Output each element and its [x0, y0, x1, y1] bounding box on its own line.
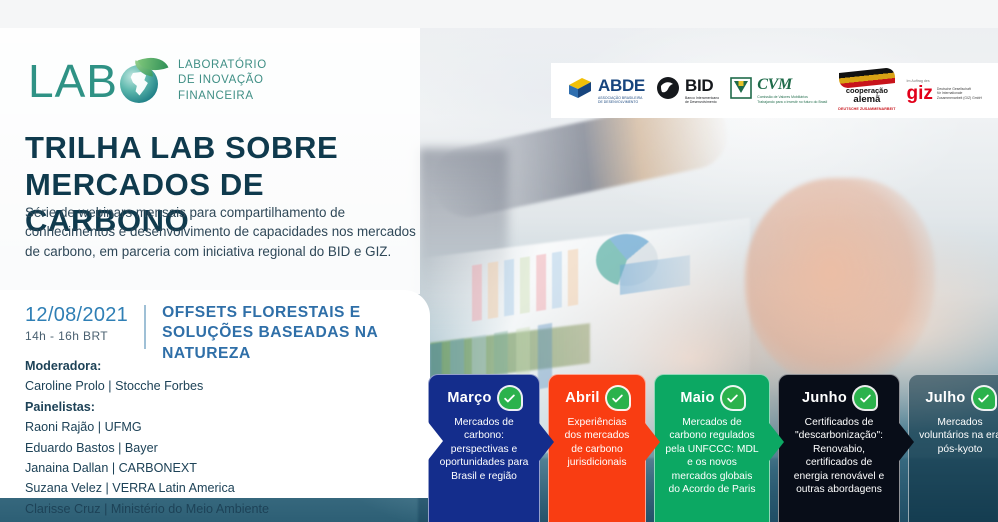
partner-logo-cooperacao-alema: cooperação alemã DEUTSCHE ZUSAMMENARBEIT: [838, 70, 895, 112]
partner-logo-bar: ABDE ASSOCIAÇÃO BRASILEIRA DE DESENVOLVI…: [551, 63, 998, 118]
lab-logo-subtitle: Laboratório de Inovação Financeira: [178, 58, 267, 104]
partner-logo-cvm: CVM Comissão de Valores Mobiliários Trab…: [730, 77, 827, 104]
check-circle-icon: [499, 387, 521, 409]
check-circle-icon: [607, 387, 629, 409]
timeline-card-header: Julho: [917, 385, 998, 411]
timeline-card-header: Abril: [557, 385, 637, 411]
timeline-card-description: Experiências dos mercados de carbono jur…: [557, 416, 637, 470]
timeline-card-month: Maio: [680, 390, 714, 406]
timeline-card-description: Certificados de "descarbonização": Renov…: [787, 416, 891, 496]
moderator-name: Caroline Prolo | Stocche Forbes: [25, 376, 385, 396]
giz-name: giz: [907, 85, 933, 102]
webinar-banner: LAB Laboratório de Inovação Financeira T…: [0, 0, 998, 522]
photo-hand: [745, 178, 935, 388]
timeline-card-description: Mercados de carbono: perspectivas e opor…: [437, 416, 531, 483]
lab-logo-subtitle-line-1: Laboratório: [178, 58, 267, 73]
top-band: [0, 0, 998, 28]
giz-tagline-line-3: Zusammenarbeit (GIZ) GmbH: [937, 96, 982, 100]
session-title: OFFSETS FLORESTAIS E SOLUÇÕES BASEADAS N…: [146, 303, 442, 364]
chevron-right-icon: [899, 423, 914, 461]
timeline-card-abril[interactable]: Abril Experiências dos mercados de carbo…: [548, 374, 646, 522]
panelists-label: Painelistas:: [25, 397, 385, 417]
page-description: Série de webinars mensais para compartil…: [25, 203, 420, 261]
globe-leaf-icon: [120, 59, 164, 103]
timeline-card-junho[interactable]: Junho Certificados de "descarbonização":…: [778, 374, 900, 522]
speakers-list: Moderadora: Caroline Prolo | Stocche For…: [25, 356, 385, 519]
page-title-line-1: TRILHA LAB SOBRE: [25, 130, 425, 167]
cvm-mark-icon: [730, 77, 752, 104]
check-circle-icon: [973, 387, 995, 409]
abde-mark-icon: [567, 76, 593, 105]
abde-name: ABDE: [598, 77, 645, 94]
lab-logo-subtitle-line-2: de Inovação: [178, 73, 267, 88]
bid-mark-icon: [656, 76, 680, 105]
abde-tagline-line-2: DE DESENVOLVIMENTO: [598, 100, 645, 104]
partner-logo-abde: ABDE ASSOCIAÇÃO BRASILEIRA DE DESENVOLVI…: [567, 76, 645, 105]
timeline-card-header: Maio: [663, 385, 761, 411]
check-circle-icon: [722, 387, 744, 409]
lab-logo-subtitle-line-3: Financeira: [178, 89, 267, 104]
bid-tagline-line-2: de Desenvolvimento: [685, 100, 719, 104]
timeline-card-header: Março: [437, 385, 531, 411]
timeline-card-marco[interactable]: Março Mercados de carbono: perspectivas …: [428, 374, 540, 522]
chevron-right-icon: [539, 423, 554, 461]
cvm-name: CVM: [757, 77, 827, 93]
session-datetime: 12/08/2021 14h - 16h BRT: [25, 303, 144, 343]
partner-logo-giz: Im Auftrag des giz Deutsche Gesellschaft…: [907, 79, 982, 102]
session-date: 12/08/2021: [25, 303, 128, 327]
partner-logo-bid: BID Banco Interamericano de Desenvolvime…: [656, 76, 719, 105]
check-circle-icon: [854, 387, 876, 409]
panelist-item: Suzana Velez | VERRA Latin America: [25, 478, 385, 498]
coop-tagline: DEUTSCHE ZUSAMMENARBEIT: [838, 107, 895, 111]
timeline-card-month: Junho: [802, 390, 847, 406]
session-header: 12/08/2021 14h - 16h BRT OFFSETS FLOREST…: [25, 303, 442, 364]
left-panel-arrow: [403, 418, 427, 470]
panelist-item: Janaina Dallan | CARBONEXT: [25, 458, 385, 478]
timeline-card-month: Abril: [565, 390, 600, 406]
timeline-card-month: Março: [447, 390, 491, 406]
session-time: 14h - 16h BRT: [25, 329, 128, 343]
timeline-card-description: Mercados voluntários na era pós-kyoto: [917, 416, 998, 456]
chevron-right-icon: [769, 423, 784, 461]
panel-chevron-icon: [428, 422, 443, 460]
timeline-card-maio[interactable]: Maio Mercados de carbono regulados pela …: [654, 374, 770, 522]
bid-name: BID: [685, 77, 719, 94]
lab-logo-word: LAB: [28, 58, 118, 104]
timeline-card-header: Junho: [787, 385, 891, 411]
timeline-cards: Março Mercados de carbono: perspectivas …: [428, 374, 998, 522]
panelist-item: Raoni Rajão | UFMG: [25, 417, 385, 437]
timeline-card-description: Mercados de carbono regulados pela UNFCC…: [663, 416, 761, 496]
coop-name-line-2: alemã: [853, 95, 880, 105]
panelist-item: Eduardo Bastos | Bayer: [25, 438, 385, 458]
panelist-item: Clarisse Cruz | Ministério do Meio Ambie…: [25, 499, 385, 519]
moderator-label: Moderadora:: [25, 356, 385, 376]
coop-name-line-1: cooperação: [846, 87, 888, 95]
lab-logo: LAB Laboratório de Inovação Financeira: [28, 58, 267, 104]
cvm-tagline-line-2: Trabajando para o investir no futuro do …: [757, 100, 827, 104]
timeline-card-month: Julho: [925, 390, 965, 406]
chevron-right-icon: [645, 423, 660, 461]
timeline-card-julho[interactable]: Julho Mercados voluntários na era pós-ky…: [908, 374, 998, 522]
